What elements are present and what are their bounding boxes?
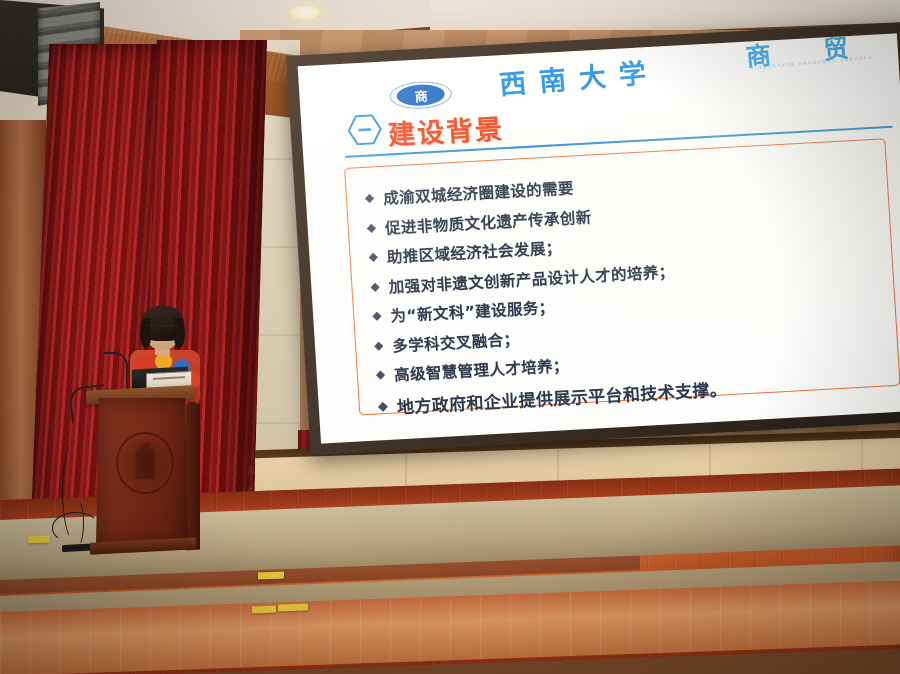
presenter-hair-left [140,318,151,348]
microphone-stand [104,352,128,394]
list-item-label: 多学科交叉融合； [392,327,520,356]
glasses-icon [147,325,178,333]
university-logo-icon: 商 [389,80,453,110]
diamond-bullet-icon: ◆ [377,398,388,412]
list-item-label: 高级智慧管理人才培养； [393,354,569,386]
list-item-label: 助推区域经济社会发展； [386,236,562,268]
diamond-bullet-icon: ◆ [366,221,376,233]
bullet-list: ◆ 成渝双城经济圈建设的需要 ◆ 促进非物质文化遗产传承创新 ◆ 助推区域经济社… [364,160,892,427]
projection-screen: 商 西南大学 商 贸 XINANDAXUE SHANGMAO XUEYUAN 建… [286,22,900,455]
slide-surface: 商 西南大学 商 贸 XINANDAXUE SHANGMAO XUEYUAN 建… [298,33,900,443]
list-item-label: 为“新文科”建设服务； [390,296,555,327]
diamond-bullet-icon: ◆ [372,309,382,321]
diamond-bullet-icon: ◆ [365,191,375,203]
slide-title: 建设背景 [387,107,505,152]
diamond-bullet-icon: ◆ [374,339,384,351]
presenter-hair-right [174,318,185,348]
floor-tape-marker [28,536,50,544]
floor-tape-marker [278,603,308,611]
diamond-bullet-icon: ◆ [368,250,378,262]
university-name: 西南大学 [497,51,660,103]
podium-emblem-icon [116,432,174,494]
diamond-bullet-icon: ◆ [370,280,380,292]
logo-glyph: 商 [414,85,427,105]
presentation-photo: 商 西南大学 商 贸 XINANDAXUE SHANGMAO XUEYUAN 建… [0,0,900,674]
list-item-label: 成渝双城经济圈建设的需要 [383,176,575,208]
diamond-bullet-icon: ◆ [376,368,386,380]
list-item-label: 促进非物质文化遗产传承创新 [384,205,592,238]
floor-tape-marker [258,572,284,580]
hexagon-section-marker-icon [347,114,383,146]
floor-tape-marker [252,606,276,614]
audio-cable [62,440,88,542]
podium-side [186,404,200,551]
slide-content-box: ◆ 成渝双城经济圈建设的需要 ◆ 促进非物质文化遗产传承创新 ◆ 助推区域经济社… [344,138,900,415]
ceiling-light-icon [288,6,322,20]
